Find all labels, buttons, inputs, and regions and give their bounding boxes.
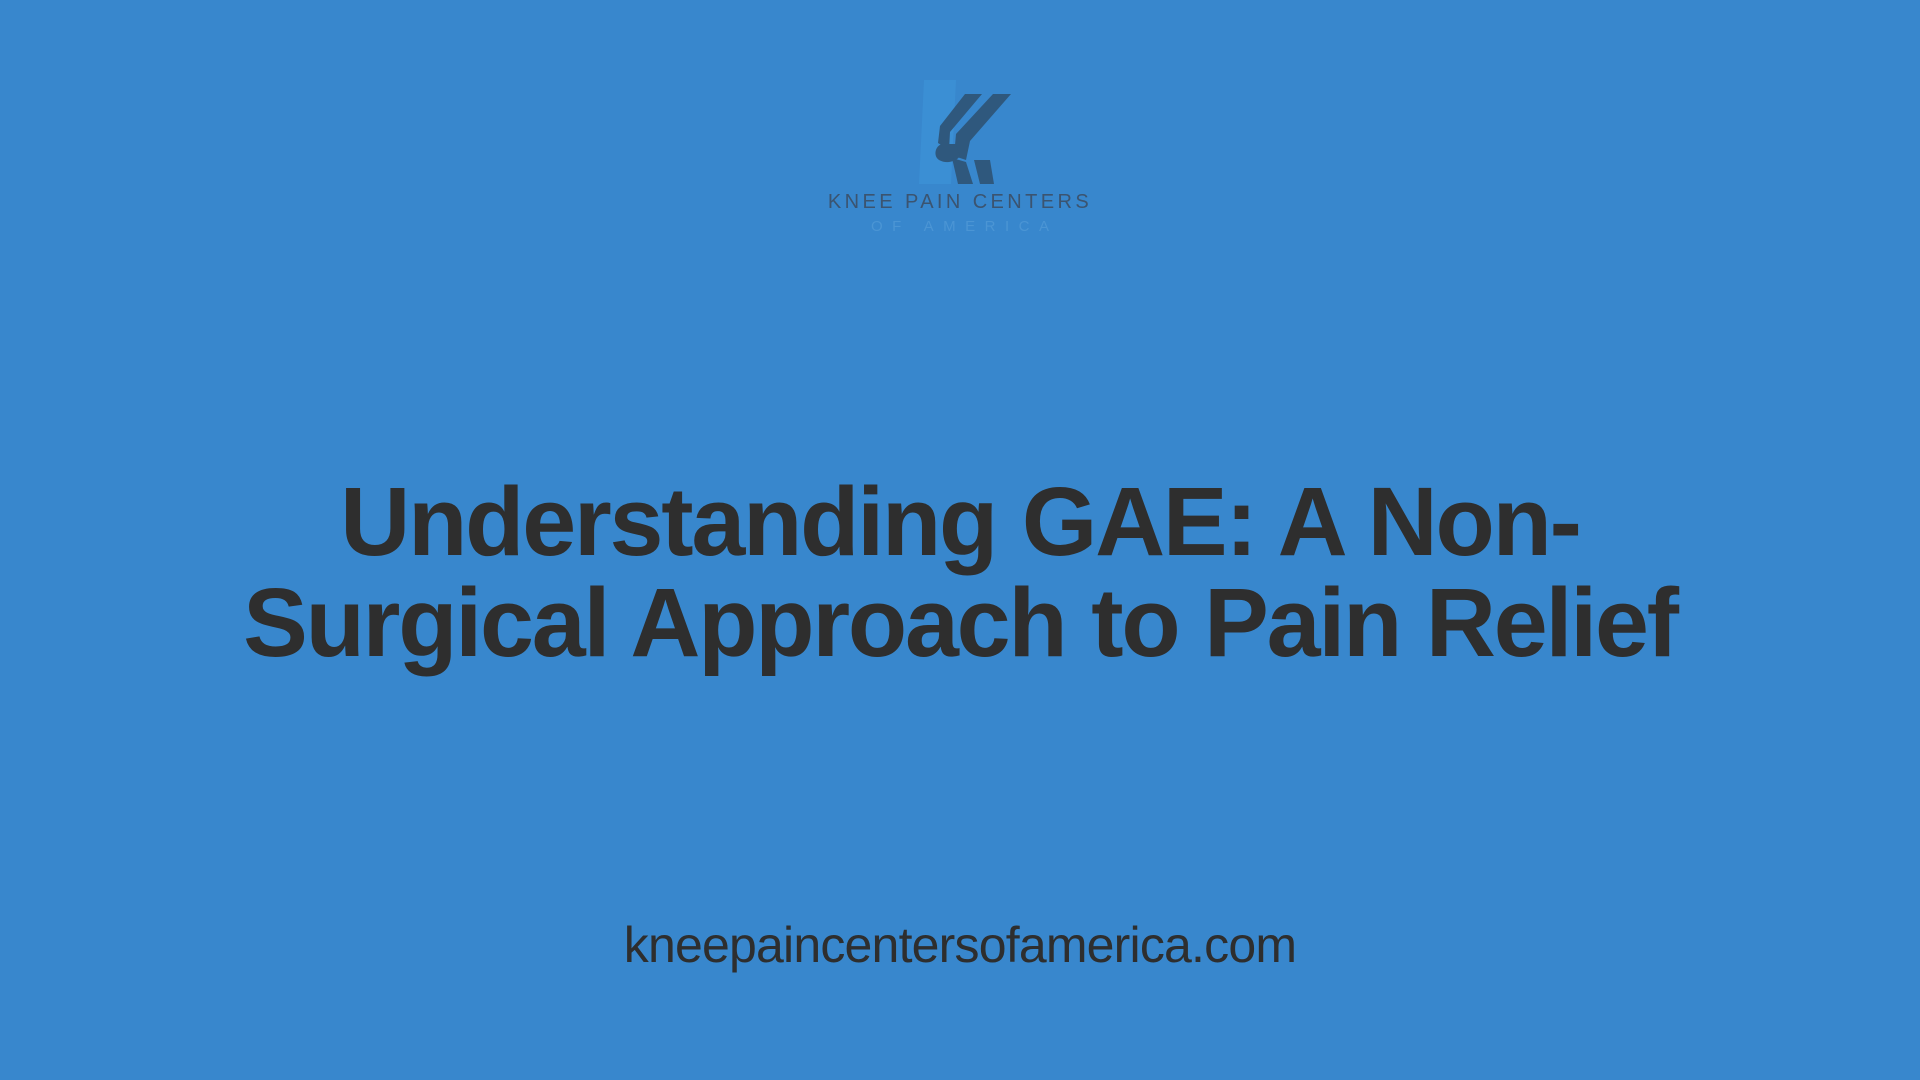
footer-container: kneepaincentersofamerica.com <box>0 920 1920 970</box>
knee-joint-k-logo-icon <box>894 78 1026 186</box>
brand-subwordmark: OF AMERICA <box>861 219 1058 234</box>
brand-wordmark: KNEE PAIN CENTERS <box>828 192 1092 212</box>
brand-logo-lockup: KNEE PAIN CENTERS OF AMERICA <box>0 78 1920 234</box>
title-slide: KNEE PAIN CENTERS OF AMERICA Understandi… <box>0 0 1920 1080</box>
headline-container: Understanding GAE: A Non-Surgical Approa… <box>0 472 1920 674</box>
page-title: Understanding GAE: A Non-Surgical Approa… <box>210 472 1710 674</box>
website-url: kneepaincentersofamerica.com <box>624 920 1296 970</box>
